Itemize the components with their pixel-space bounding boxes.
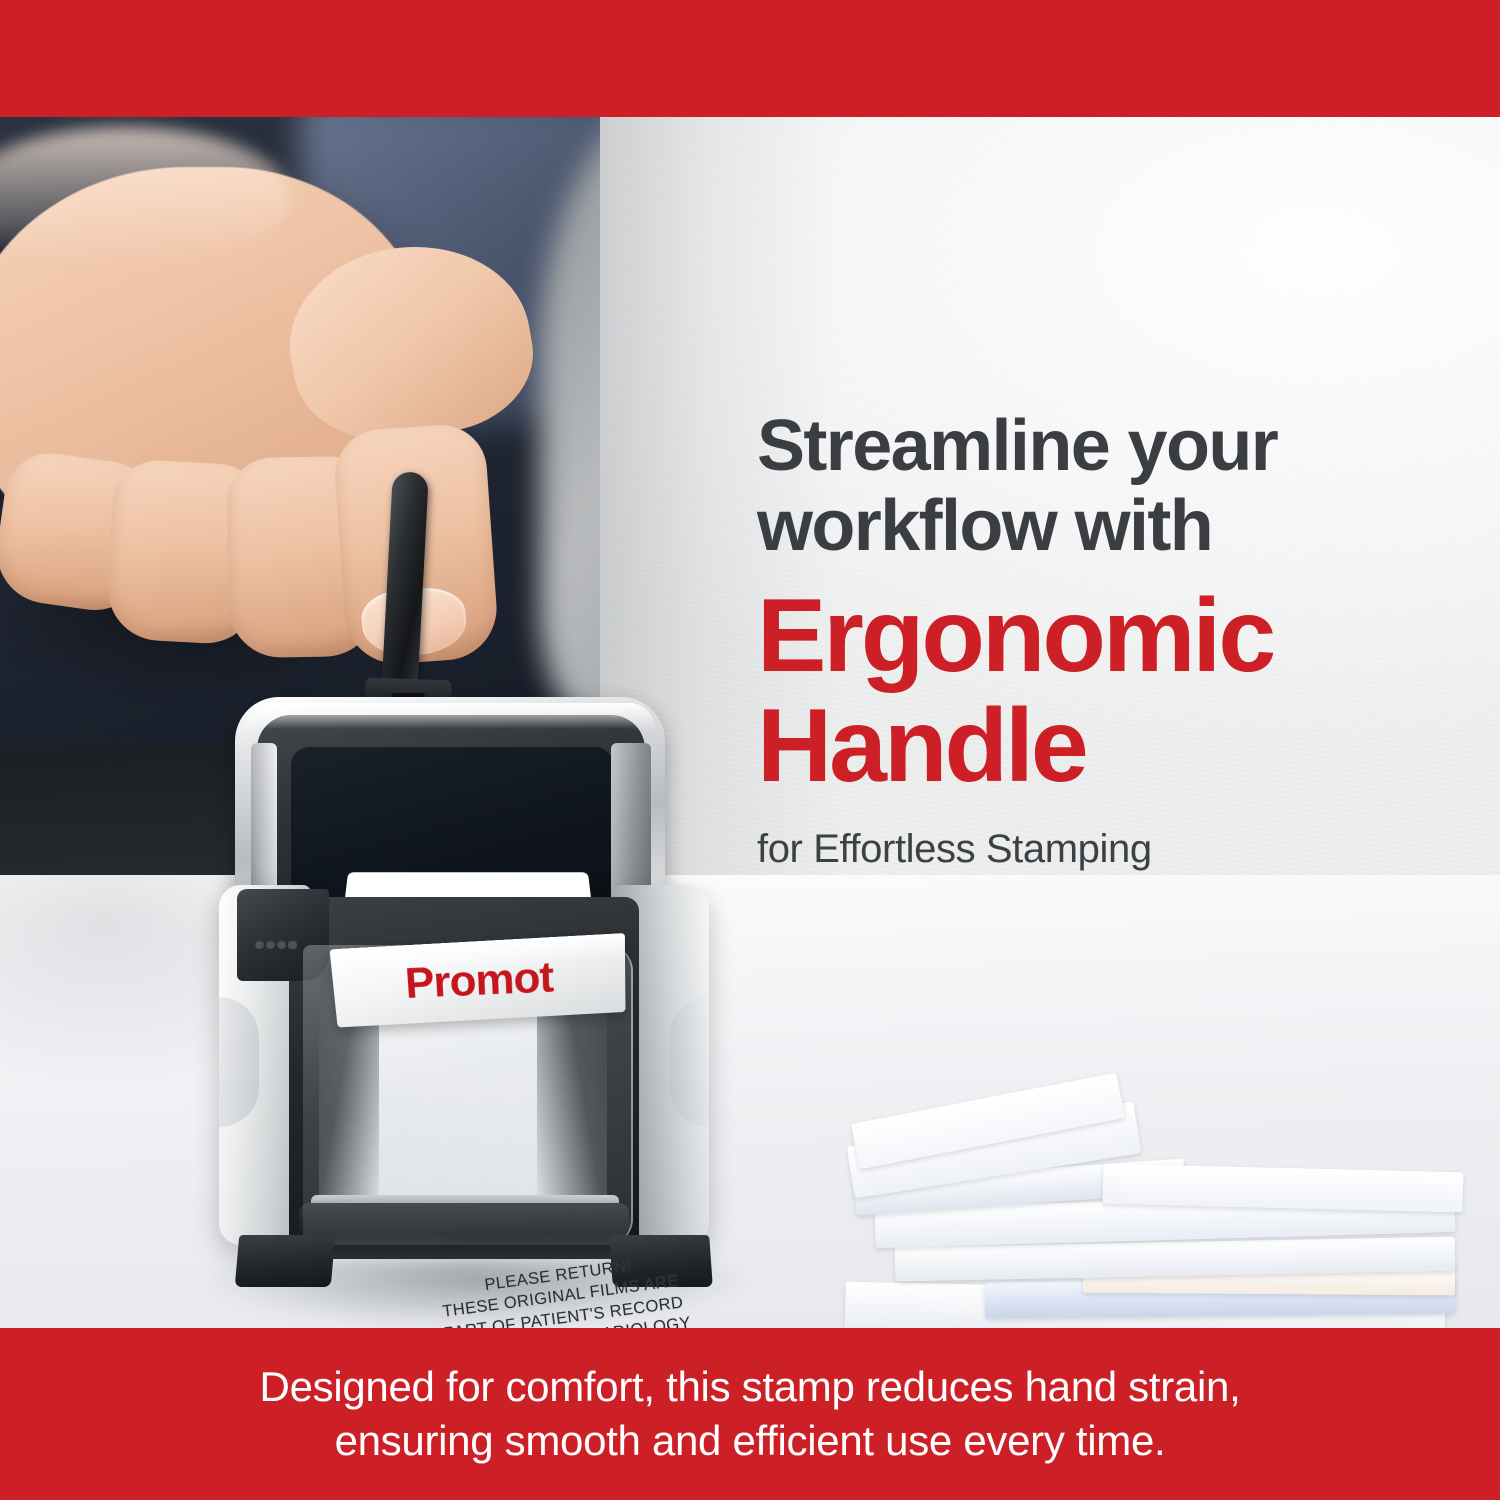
headline-accent: Ergonomic Handle bbox=[757, 581, 1457, 801]
page-title: Streamline your workflow with bbox=[757, 407, 1457, 567]
stamp-body-left-waist bbox=[219, 997, 259, 1127]
bottom-red-banner: Designed for comfort, this stamp reduces… bbox=[0, 1328, 1500, 1500]
self-inking-stamp: Promot bbox=[215, 567, 735, 1287]
banner-caption: Designed for comfort, this stamp reduces… bbox=[80, 1360, 1420, 1468]
embossed-logo-icon bbox=[255, 935, 299, 957]
stack-of-documents bbox=[835, 1082, 1475, 1328]
stamp-body-right-waist bbox=[669, 997, 709, 1127]
marketing-copy: Streamline your workflow with Ergonomic … bbox=[757, 407, 1457, 872]
stamp-foot-left bbox=[235, 1235, 336, 1287]
arch-highlight bbox=[245, 703, 655, 729]
top-red-banner bbox=[0, 0, 1500, 117]
product-marketing-poster: Promot PLEASE RETURN! THESE ORIGINAL FIL… bbox=[0, 0, 1500, 1500]
product-photo: Promot PLEASE RETURN! THESE ORIGINAL FIL… bbox=[0, 117, 1500, 1328]
subheadline: for Effortless Stamping bbox=[757, 827, 1457, 872]
